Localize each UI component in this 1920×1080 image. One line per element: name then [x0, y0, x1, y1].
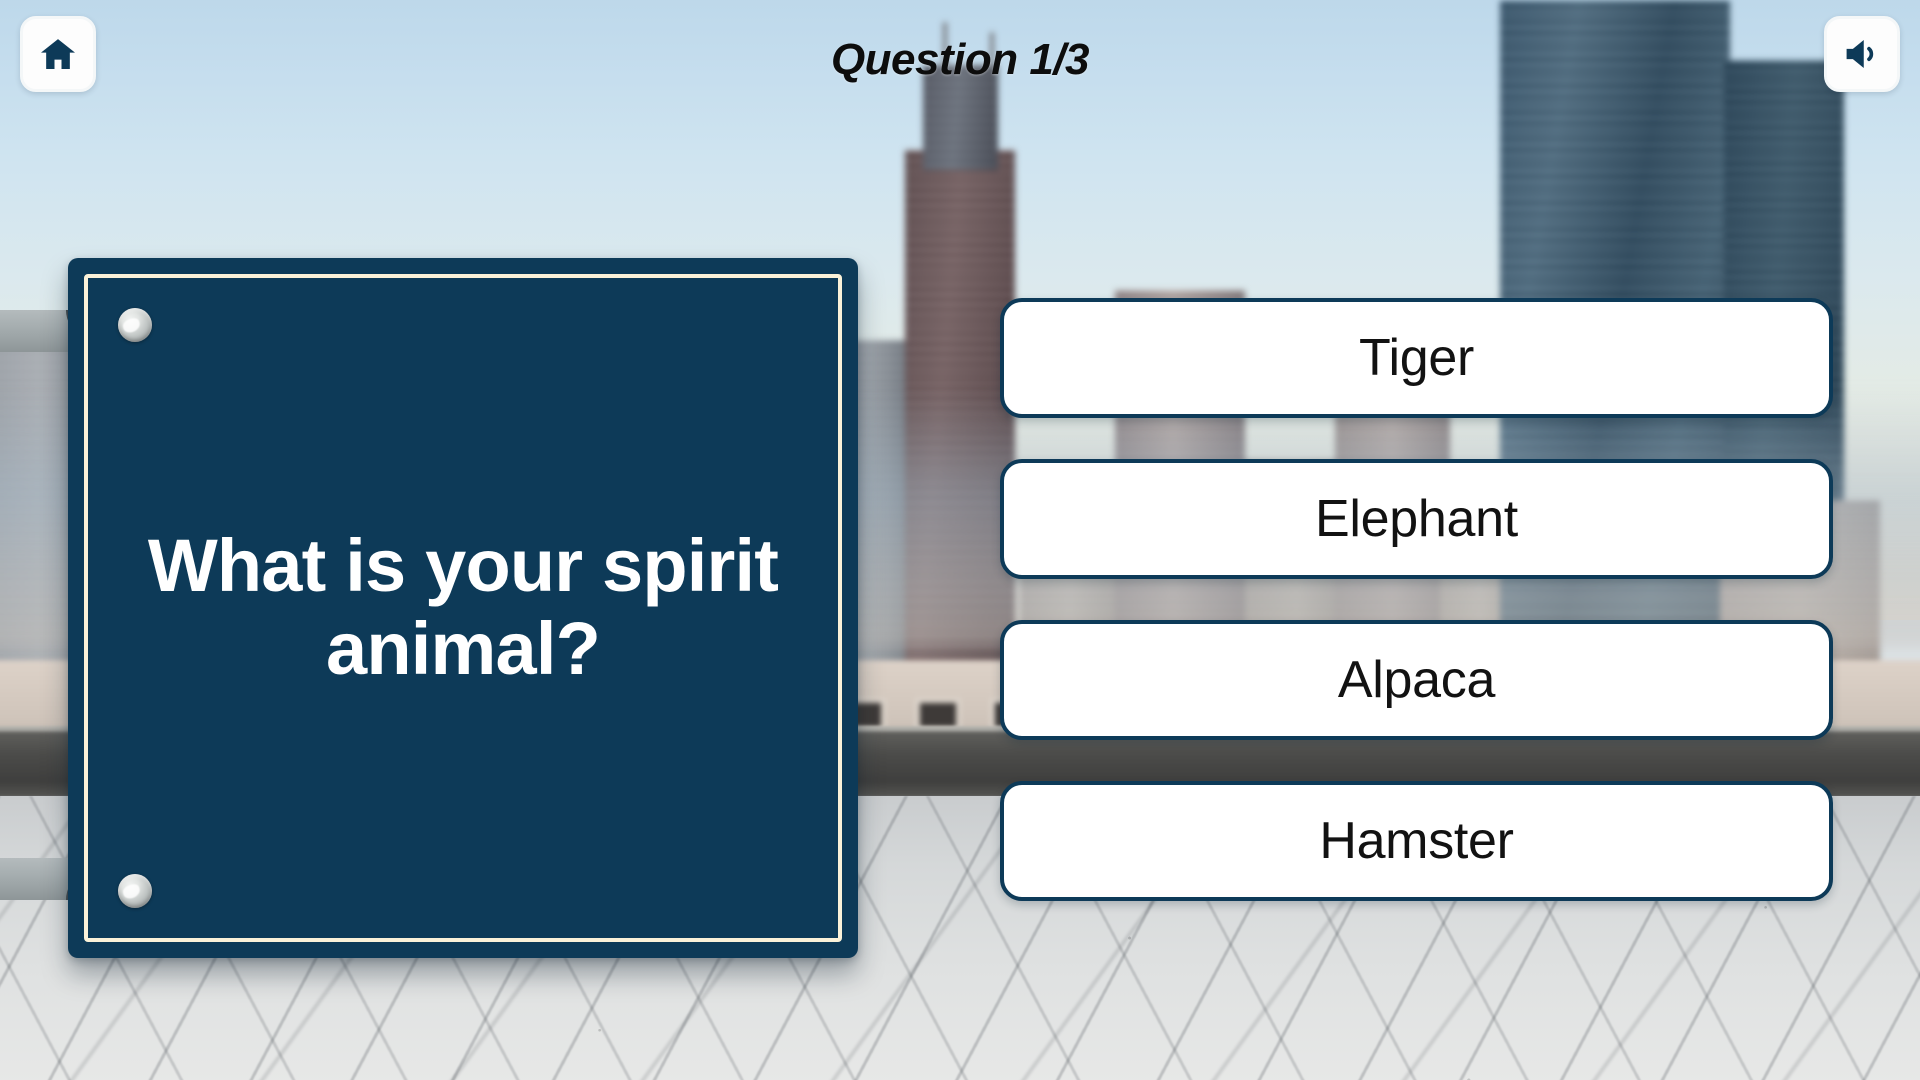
answer-option-label: Tiger — [1359, 328, 1474, 388]
answer-option-label: Elephant — [1315, 489, 1518, 549]
rivet-icon — [118, 308, 152, 342]
question-card-inner-frame: What is your spirit animal? — [84, 274, 842, 942]
answer-option-label: Hamster — [1319, 811, 1513, 871]
quiz-screen: Question 1/3 What is your spirit animal?… — [0, 0, 1920, 1080]
answer-option-label: Alpaca — [1338, 650, 1495, 710]
question-text: What is your spirit animal? — [88, 525, 838, 691]
sound-toggle-button[interactable] — [1824, 16, 1900, 92]
question-counter: Question 1/3 — [0, 38, 1920, 82]
answer-options-list: Tiger Elephant Alpaca Hamster — [1000, 298, 1833, 901]
rivet-icon — [118, 874, 152, 908]
speaker-volume-icon — [1841, 33, 1883, 75]
question-card: What is your spirit animal? — [68, 258, 858, 958]
answer-option-2[interactable]: Elephant — [1000, 459, 1833, 579]
answer-option-4[interactable]: Hamster — [1000, 781, 1833, 901]
question-card-wrapper: What is your spirit animal? — [68, 258, 858, 958]
answer-option-3[interactable]: Alpaca — [1000, 620, 1833, 740]
answer-option-1[interactable]: Tiger — [1000, 298, 1833, 418]
